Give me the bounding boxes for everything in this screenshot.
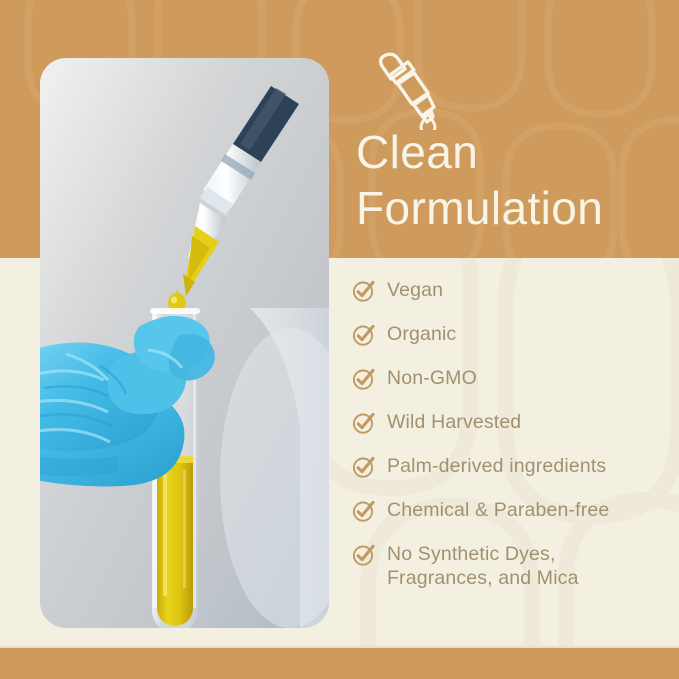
list-item[interactable]: Organic <box>352 322 679 348</box>
check-circle-icon <box>352 499 376 523</box>
list-item-label: Palm-derived ingredients <box>387 454 606 478</box>
list-item[interactable]: No Synthetic Dyes, Fragrances, and Mica <box>352 542 679 590</box>
check-circle-icon <box>352 367 376 391</box>
check-circle-icon <box>352 279 376 303</box>
check-circle-icon <box>352 411 376 435</box>
content-column: Clean Formulation Vegan Organic <box>352 0 679 679</box>
dropper-icon <box>376 52 450 130</box>
page-title: Clean Formulation <box>356 124 676 236</box>
list-item-label: Non-GMO <box>387 366 477 390</box>
list-item[interactable]: Palm-derived ingredients <box>352 454 679 480</box>
list-item-label: Chemical & Paraben-free <box>387 498 609 522</box>
list-item[interactable]: Wild Harvested <box>352 410 679 436</box>
list-item-label: Vegan <box>387 278 443 302</box>
check-circle-icon <box>352 543 376 567</box>
check-circle-icon <box>352 323 376 347</box>
list-item-label: Wild Harvested <box>387 410 521 434</box>
product-feature-card: Clean Formulation Vegan Organic <box>0 0 679 679</box>
list-item[interactable]: Non-GMO <box>352 366 679 392</box>
product-photo <box>40 58 329 628</box>
check-circle-icon <box>352 455 376 479</box>
feature-list: Vegan Organic Non-GMO <box>352 278 679 590</box>
list-item-label: No Synthetic Dyes, Fragrances, and Mica <box>387 542 579 590</box>
list-item-label: Organic <box>387 322 456 346</box>
lab-photo-illustration <box>40 58 329 628</box>
list-item[interactable]: Vegan <box>352 278 679 304</box>
list-item[interactable]: Chemical & Paraben-free <box>352 498 679 524</box>
